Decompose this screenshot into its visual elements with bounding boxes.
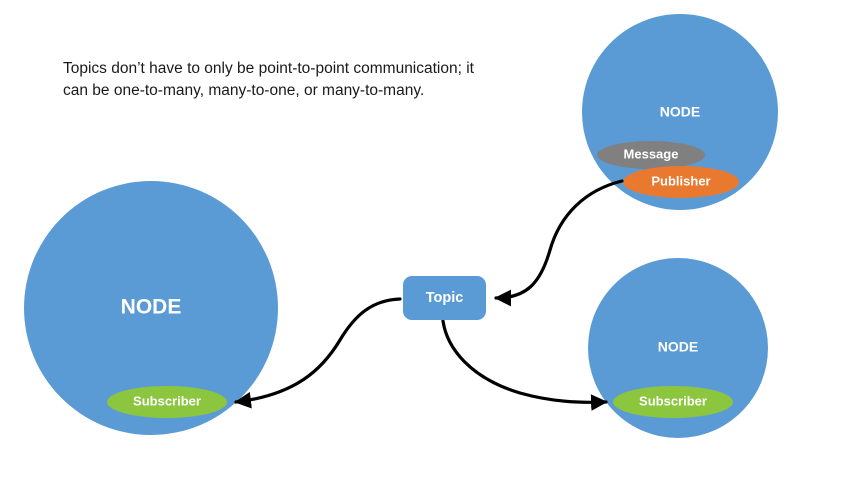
subscriber-left-label: Subscriber (133, 393, 201, 408)
subscriber-node-right-label: NODE (658, 339, 698, 355)
diagram-canvas: Topics don’t have to only be point-to-po… (0, 0, 854, 480)
subscriber-node-right[interactable]: NODE Subscriber (588, 258, 768, 438)
diagram-graphic: NODE Message Publisher NODE Subscriber N… (0, 0, 854, 480)
edge-topic-to-subscriber-right (443, 321, 606, 402)
topic-label: Topic (426, 290, 464, 306)
edge-publisher-to-topic (496, 181, 622, 298)
publisher-node[interactable]: NODE Message Publisher (582, 14, 778, 210)
topic-box[interactable]: Topic (403, 276, 486, 320)
publisher-node-label: NODE (660, 104, 700, 120)
publisher-label: Publisher (651, 173, 710, 188)
subscriber-node-left[interactable]: NODE Subscriber (24, 181, 278, 435)
message-label: Message (624, 146, 679, 161)
subscriber-right-label: Subscriber (639, 393, 707, 408)
subscriber-node-left-label: NODE (121, 296, 182, 319)
